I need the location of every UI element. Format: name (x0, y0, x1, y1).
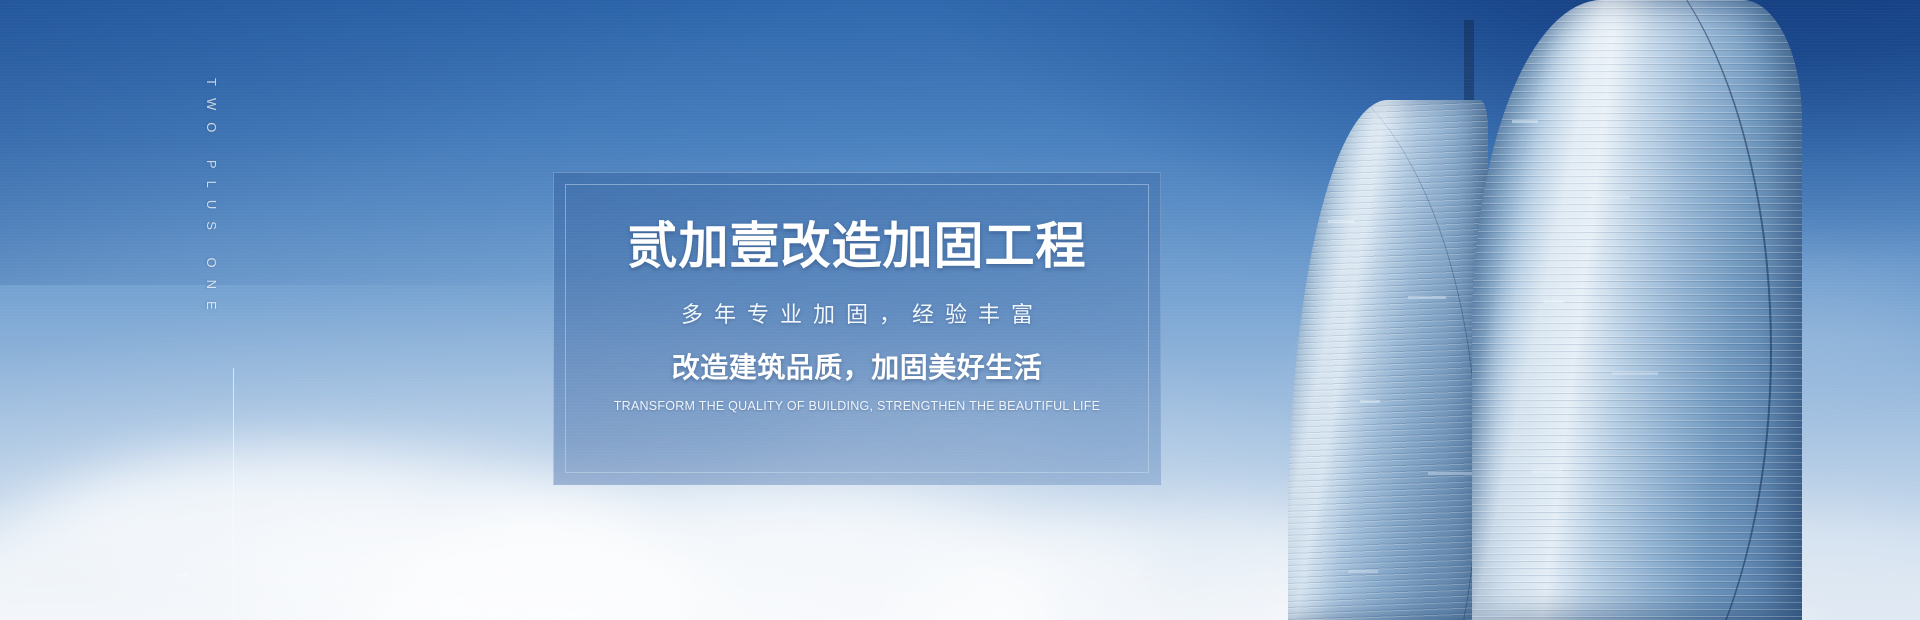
front-slim-tower (1288, 100, 1488, 620)
tower-glass-sheen (1288, 100, 1488, 620)
headline-panel: 贰加壹改造加固工程 多年专业加固，经验丰富 改造建筑品质，加固美好生活 TRAN… (553, 172, 1161, 485)
english-tagline: TRANSFORM THE QUALITY OF BUILDING, STREN… (614, 400, 1100, 413)
vertical-brand-block: TWO PLUS ONE 1 (204, 78, 264, 548)
vertical-brand-text: TWO PLUS ONE (204, 78, 219, 322)
hero-banner: TWO PLUS ONE 1 贰加壹改造加固工程 多年专业加固，经验丰富 改造建… (0, 0, 1920, 620)
page-title: 贰加壹改造加固工程 (628, 221, 1087, 271)
headline-panel-inner-border: 贰加壹改造加固工程 多年专业加固，经验丰富 改造建筑品质，加固美好生活 TRAN… (565, 184, 1149, 473)
skyscraper-group (1260, 0, 1920, 620)
tower-glass-sheen (1472, 0, 1802, 620)
slogan: 改造建筑品质，加固美好生活 (672, 354, 1043, 382)
subtitle: 多年专业加固，经验丰富 (670, 304, 1044, 326)
main-wide-tower (1472, 0, 1802, 620)
brand-mark-glyph: 1 (176, 572, 188, 579)
vertical-divider-line (233, 368, 234, 620)
